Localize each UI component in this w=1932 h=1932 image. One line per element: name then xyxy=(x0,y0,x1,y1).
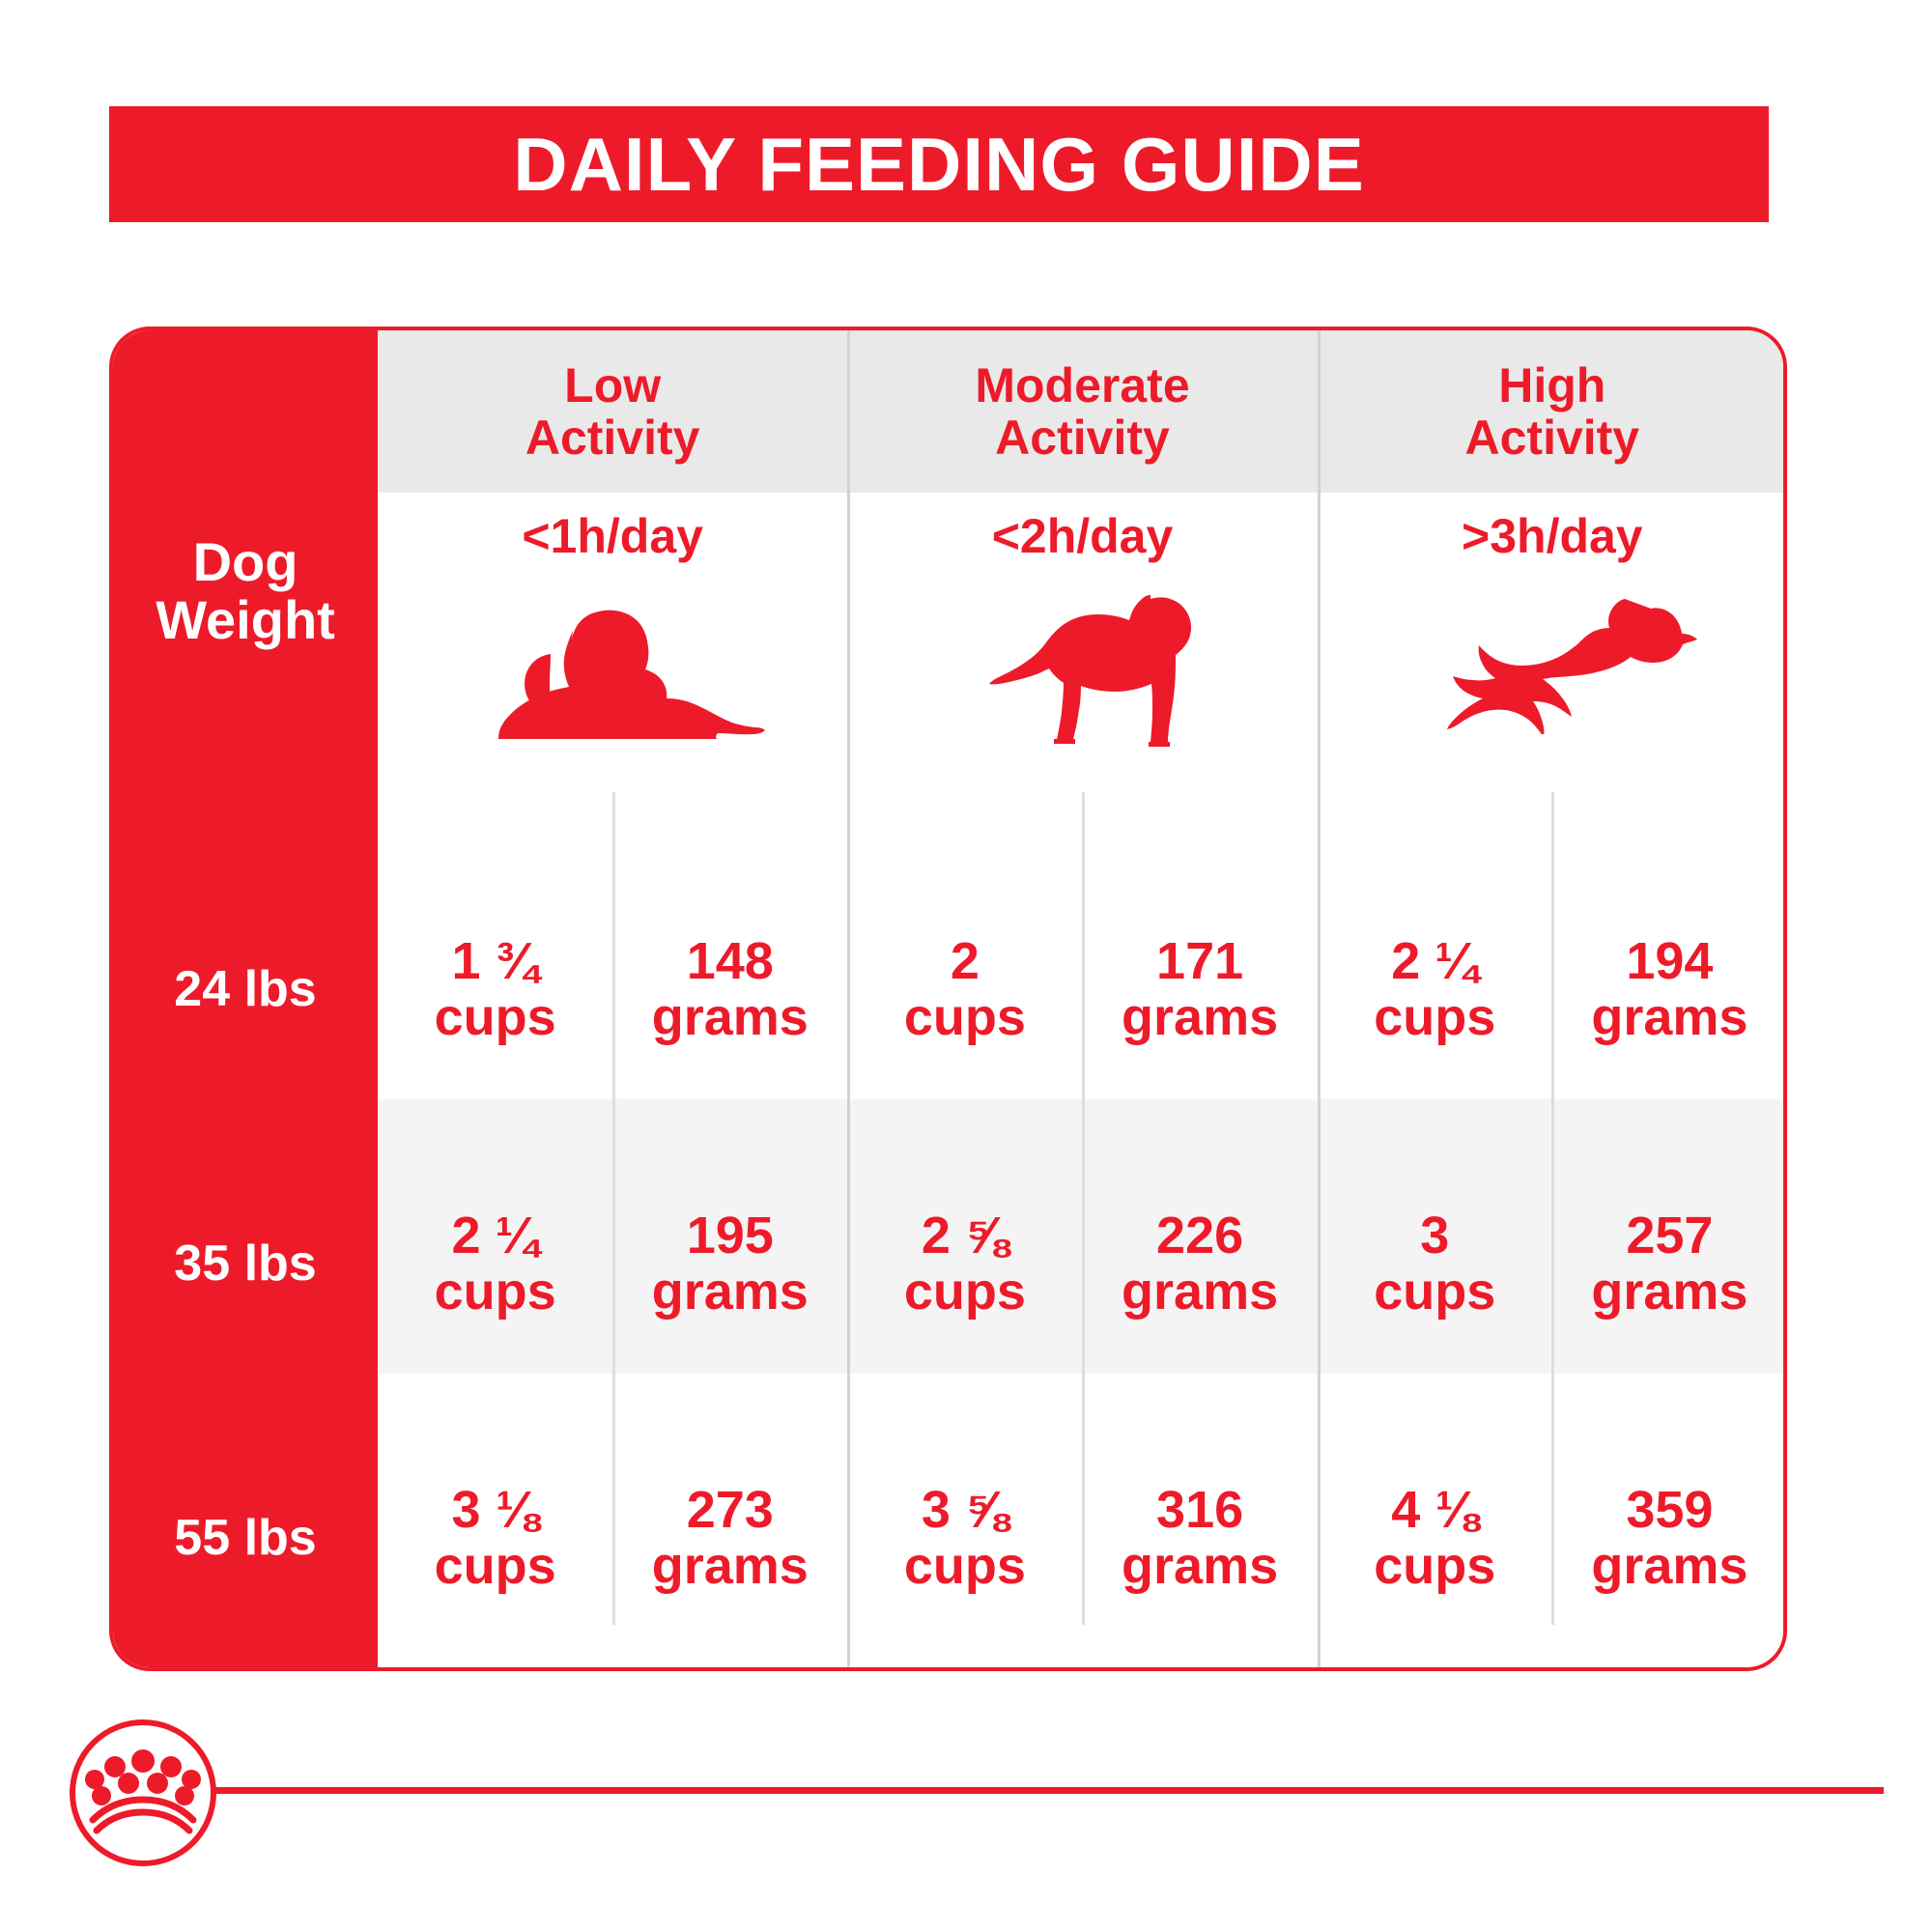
grams-cell: 359 grams xyxy=(1552,1401,1787,1671)
cups-cell: 2 ¼ cups xyxy=(378,1126,612,1401)
activity-title-line1: High xyxy=(1498,358,1605,412)
cups-unit: cups xyxy=(435,1538,556,1594)
activity-title-moderate: Moderate Activity xyxy=(847,330,1317,493)
grams-amount: 195 xyxy=(687,1207,774,1264)
dog-running-icon xyxy=(1318,580,1787,753)
cups-amount: 1 ¾ xyxy=(452,933,539,989)
cups-cell: 3 ⅝ cups xyxy=(847,1401,1082,1671)
sub-column-divider xyxy=(1082,792,1085,1625)
cups-amount: 3 xyxy=(1420,1207,1449,1264)
grams-unit: grams xyxy=(652,1538,809,1594)
dog-weight-header-label: Dog Weight xyxy=(156,533,335,649)
footer-logo-area xyxy=(68,1718,1884,1872)
cups-amount: 3 ⅝ xyxy=(922,1482,1009,1538)
grams-amount: 359 xyxy=(1626,1482,1713,1538)
grams-amount: 316 xyxy=(1156,1482,1243,1538)
cups-unit: cups xyxy=(904,1538,1026,1594)
grams-unit: grams xyxy=(1122,1538,1278,1594)
grams-amount: 171 xyxy=(1156,933,1243,989)
activity-duration-high: >3h/day xyxy=(1318,493,1787,580)
cups-unit: cups xyxy=(435,1264,556,1320)
cups-amount: 4 ⅛ xyxy=(1391,1482,1478,1538)
cups-cell: 2 ⅝ cups xyxy=(847,1126,1082,1401)
activity-title-line2: Activity xyxy=(995,411,1170,465)
cups-amount: 2 ¼ xyxy=(452,1207,539,1264)
feeding-guide-table: Dog Weight 24 lbs 35 lbs 55 lbs Low Acti… xyxy=(109,327,1787,1671)
grams-amount: 273 xyxy=(687,1482,774,1538)
dog-weight-header-line2: Weight xyxy=(156,589,335,650)
dog-weight-header-line1: Dog xyxy=(193,531,298,592)
grams-amount: 257 xyxy=(1626,1207,1713,1264)
cups-unit: cups xyxy=(435,989,556,1045)
activity-duration-moderate: <2h/day xyxy=(847,493,1317,580)
grams-unit: grams xyxy=(652,1264,809,1320)
grams-cell: 195 grams xyxy=(612,1126,847,1401)
cups-unit: cups xyxy=(1374,1264,1495,1320)
cups-amount: 2 ¼ xyxy=(1391,933,1478,989)
activity-title-line2: Activity xyxy=(1465,411,1640,465)
grams-amount: 226 xyxy=(1156,1207,1243,1264)
cups-cell: 3 ⅛ cups xyxy=(378,1401,612,1671)
activity-title-low: Low Activity xyxy=(378,330,847,493)
grams-cell: 194 grams xyxy=(1552,852,1787,1126)
dog-lying-icon xyxy=(378,580,847,753)
weight-row-label: 24 lbs xyxy=(113,852,378,1126)
page-title: DAILY FEEDING GUIDE xyxy=(513,127,1365,202)
title-banner: DAILY FEEDING GUIDE xyxy=(109,106,1769,222)
cups-unit: cups xyxy=(904,989,1026,1045)
cups-cell: 2 cups xyxy=(847,852,1082,1126)
activity-title-line2: Activity xyxy=(526,411,700,465)
royal-canin-crown-logo xyxy=(68,1718,218,1868)
grams-cell: 226 grams xyxy=(1083,1126,1318,1401)
grams-unit: grams xyxy=(1591,989,1747,1045)
grams-cell: 171 grams xyxy=(1083,852,1318,1126)
grams-cell: 273 grams xyxy=(612,1401,847,1671)
sub-column-divider xyxy=(612,792,615,1625)
grams-amount: 148 xyxy=(687,933,774,989)
dog-standing-icon xyxy=(847,580,1317,753)
weight-row-label: 55 lbs xyxy=(113,1401,378,1671)
cups-unit: cups xyxy=(1374,1538,1495,1594)
activity-title-high: High Activity xyxy=(1318,330,1787,493)
cups-unit: cups xyxy=(904,1264,1026,1320)
cups-unit: cups xyxy=(1374,989,1495,1045)
weight-row-label: 35 lbs xyxy=(113,1126,378,1401)
grams-unit: grams xyxy=(1591,1264,1747,1320)
grams-cell: 316 grams xyxy=(1083,1401,1318,1671)
grams-unit: grams xyxy=(652,989,809,1045)
cups-cell: 2 ¼ cups xyxy=(1318,852,1552,1126)
activity-duration-low: <1h/day xyxy=(378,493,847,580)
sub-column-divider xyxy=(1551,792,1554,1625)
footer-rule xyxy=(213,1787,1884,1794)
grams-amount: 194 xyxy=(1626,933,1713,989)
cups-cell: 3 cups xyxy=(1318,1126,1552,1401)
cups-amount: 3 ⅛ xyxy=(452,1482,539,1538)
dog-weight-header: Dog Weight xyxy=(113,330,378,852)
dog-weight-column: Dog Weight 24 lbs 35 lbs 55 lbs xyxy=(113,330,378,1667)
grams-cell: 148 grams xyxy=(612,852,847,1126)
activity-title-line1: Low xyxy=(564,358,661,412)
grams-cell: 257 grams xyxy=(1552,1126,1787,1401)
cups-amount: 2 xyxy=(951,933,980,989)
grams-unit: grams xyxy=(1591,1538,1747,1594)
cups-cell: 4 ⅛ cups xyxy=(1318,1401,1552,1671)
grams-unit: grams xyxy=(1122,989,1278,1045)
cups-amount: 2 ⅝ xyxy=(922,1207,1009,1264)
grams-unit: grams xyxy=(1122,1264,1278,1320)
activity-title-line1: Moderate xyxy=(975,358,1189,412)
cups-cell: 1 ¾ cups xyxy=(378,852,612,1126)
